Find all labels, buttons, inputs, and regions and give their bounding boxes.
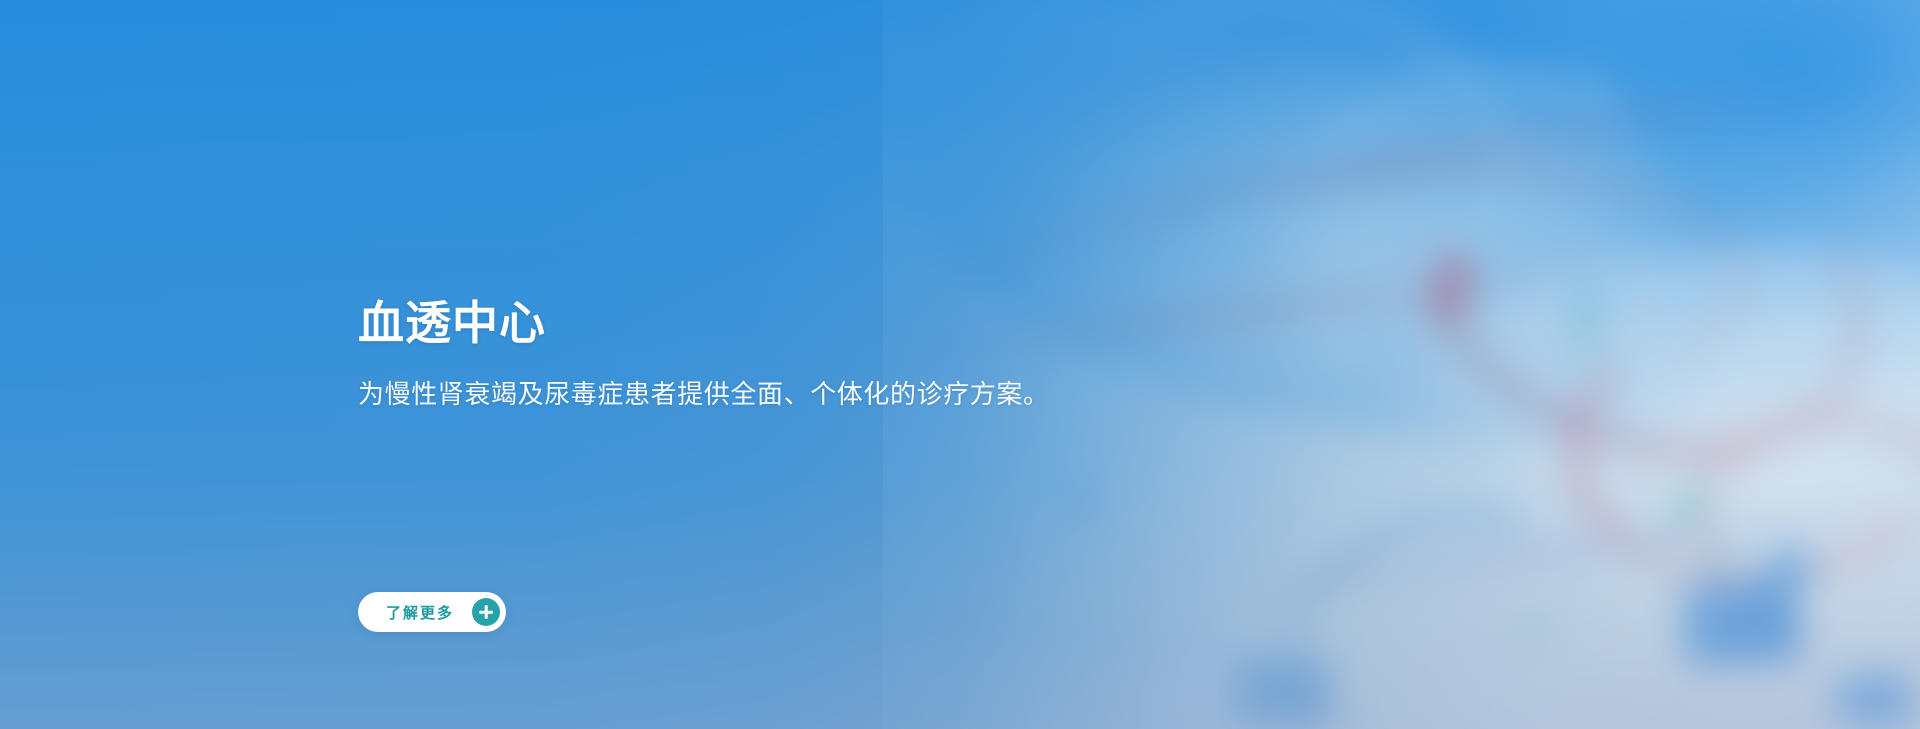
learn-more-label: 了解更多 bbox=[386, 602, 454, 623]
hero-banner: clamp pump 血透中心 为慢性肾衰竭及尿毒症患者提供全面、个体化的诊疗方… bbox=[0, 0, 1920, 729]
hero-subtitle: 为慢性肾衰竭及尿毒症患者提供全面、个体化的诊疗方案。 bbox=[358, 377, 1050, 412]
hero-content: 血透中心 为慢性肾衰竭及尿毒症患者提供全面、个体化的诊疗方案。 了解更多 bbox=[358, 0, 1458, 729]
learn-more-button[interactable]: 了解更多 bbox=[358, 592, 506, 632]
page-title: 血透中心 bbox=[358, 296, 546, 351]
plus-icon bbox=[472, 598, 500, 626]
